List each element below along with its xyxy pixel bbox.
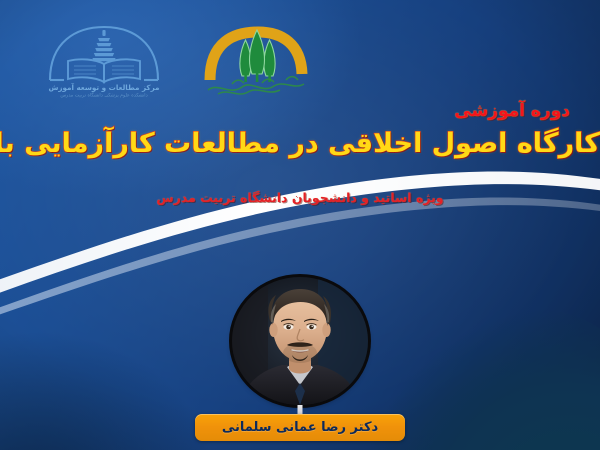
background-corner-shade-left [0, 330, 220, 450]
audience-subtitle: ویژه اساتید و دانشجویان دانشگاه تربیت مد… [0, 190, 600, 205]
workshop-poster: مرکز مطالعات و توسعه آموزش دانشکده علوم … [0, 0, 600, 450]
speaker-nameplate: دکتر رضا عمانی سلمانی [195, 414, 405, 441]
page-title: کارگاه اصول اخلاقی در مطالعات کارآزمایی … [0, 128, 600, 159]
emdc-logo-icon: مرکز مطالعات و توسعه آموزش دانشکده علوم … [38, 18, 170, 98]
speaker-portrait [232, 277, 368, 405]
emdc-logo-subtitle: دانشکده علوم پزشکی دانشگاه تربیت مدرس [60, 91, 147, 98]
logo-row: مرکز مطالعات و توسعه آموزش دانشکده علوم … [38, 18, 320, 98]
university-logo-icon [188, 18, 320, 98]
emdc-logo-title: مرکز مطالعات و توسعه آموزش [48, 82, 159, 92]
course-kicker: دوره آموزشی [454, 101, 570, 121]
tarbiat-modares-university-logo [188, 18, 320, 98]
portrait-image [232, 277, 368, 405]
speaker-name-label: دکتر رضا عمانی سلمانی [222, 420, 378, 435]
emdc-logo: مرکز مطالعات و توسعه آموزش دانشکده علوم … [38, 18, 170, 98]
